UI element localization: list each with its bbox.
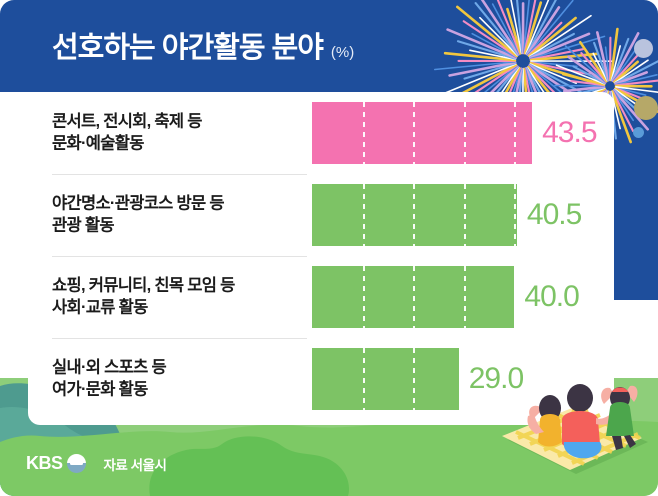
kbs-logo-mark	[67, 454, 86, 473]
bar-gridlines	[312, 184, 517, 246]
row-divider	[52, 174, 307, 175]
row-divider	[52, 256, 307, 257]
bar-gridlines	[312, 102, 532, 164]
family-picnic-illustration	[492, 368, 652, 480]
bar-area: 43.5	[312, 92, 614, 174]
gridline	[413, 266, 415, 328]
gridline	[514, 102, 516, 164]
footer: KBS 자료 서울시	[26, 453, 166, 474]
row-label-line2: 사회·교류 활동	[52, 297, 314, 319]
gridline	[413, 102, 415, 164]
decor-dot-khaki	[634, 96, 658, 120]
bar-gridlines	[312, 348, 459, 410]
row-label-line2: 문화·예술활동	[52, 133, 314, 155]
title-unit: (%)	[331, 44, 354, 61]
row-label-line2: 여가·문화 활동	[52, 379, 314, 401]
gridline	[413, 184, 415, 246]
row-label-line1: 야간명소·관광코스 방문 등	[52, 195, 224, 213]
bar-area: 40.5	[312, 174, 614, 256]
chart-row: 콘서트, 전시회, 축제 등문화·예술활동43.5	[28, 92, 614, 174]
chart-bar	[312, 184, 517, 246]
gridline	[413, 348, 415, 410]
gridline	[514, 184, 516, 246]
row-divider	[52, 338, 307, 339]
row-label-line1: 실내·외 스포츠 등	[52, 359, 166, 377]
gridline	[363, 266, 365, 328]
gridline	[363, 102, 365, 164]
row-label: 야간명소·관광코스 방문 등관광 활동	[52, 193, 314, 238]
bar-gridlines	[312, 266, 514, 328]
gridline	[363, 348, 365, 410]
row-label-line2: 관광 활동	[52, 215, 314, 237]
row-label: 쇼핑, 커뮤니티, 친목 모임 등사회·교류 활동	[52, 275, 314, 320]
bar-value-label: 40.0	[524, 280, 578, 314]
kbs-logo-text: KBS	[26, 453, 63, 474]
gridline	[363, 184, 365, 246]
chart-bar	[312, 266, 514, 328]
source-label: 자료 서울시	[104, 454, 167, 474]
bar-area: 40.0	[312, 256, 614, 338]
page-title: 선호하는 야간활동 분야 (%)	[52, 34, 354, 63]
chart-row: 쇼핑, 커뮤니티, 친목 모임 등사회·교류 활동40.0	[28, 256, 614, 338]
decor-dot-periwinkle	[634, 39, 653, 58]
gridline	[464, 102, 466, 164]
gridline	[464, 266, 466, 328]
chart-bar	[312, 348, 459, 410]
infographic-canvas: 선호하는 야간활동 분야 (%) 콘서트, 전시회, 축제 등문화·예술활동43…	[0, 0, 658, 496]
row-label-line1: 콘서트, 전시회, 축제 등	[52, 113, 202, 131]
bar-value-label: 43.5	[542, 116, 596, 150]
decor-dot-blue	[633, 127, 644, 138]
chart-bar	[312, 102, 532, 164]
gridline	[464, 184, 466, 246]
bar-value-label: 40.5	[527, 198, 581, 232]
row-label: 콘서트, 전시회, 축제 등문화·예술활동	[52, 111, 314, 156]
row-label: 실내·외 스포츠 등여가·문화 활동	[52, 357, 314, 402]
title-text: 선호하는 야간활동 분야	[52, 34, 323, 63]
row-label-line1: 쇼핑, 커뮤니티, 친목 모임 등	[52, 277, 235, 295]
chart-row: 야간명소·관광코스 방문 등관광 활동40.5	[28, 174, 614, 256]
kbs-logo: KBS	[26, 453, 86, 474]
